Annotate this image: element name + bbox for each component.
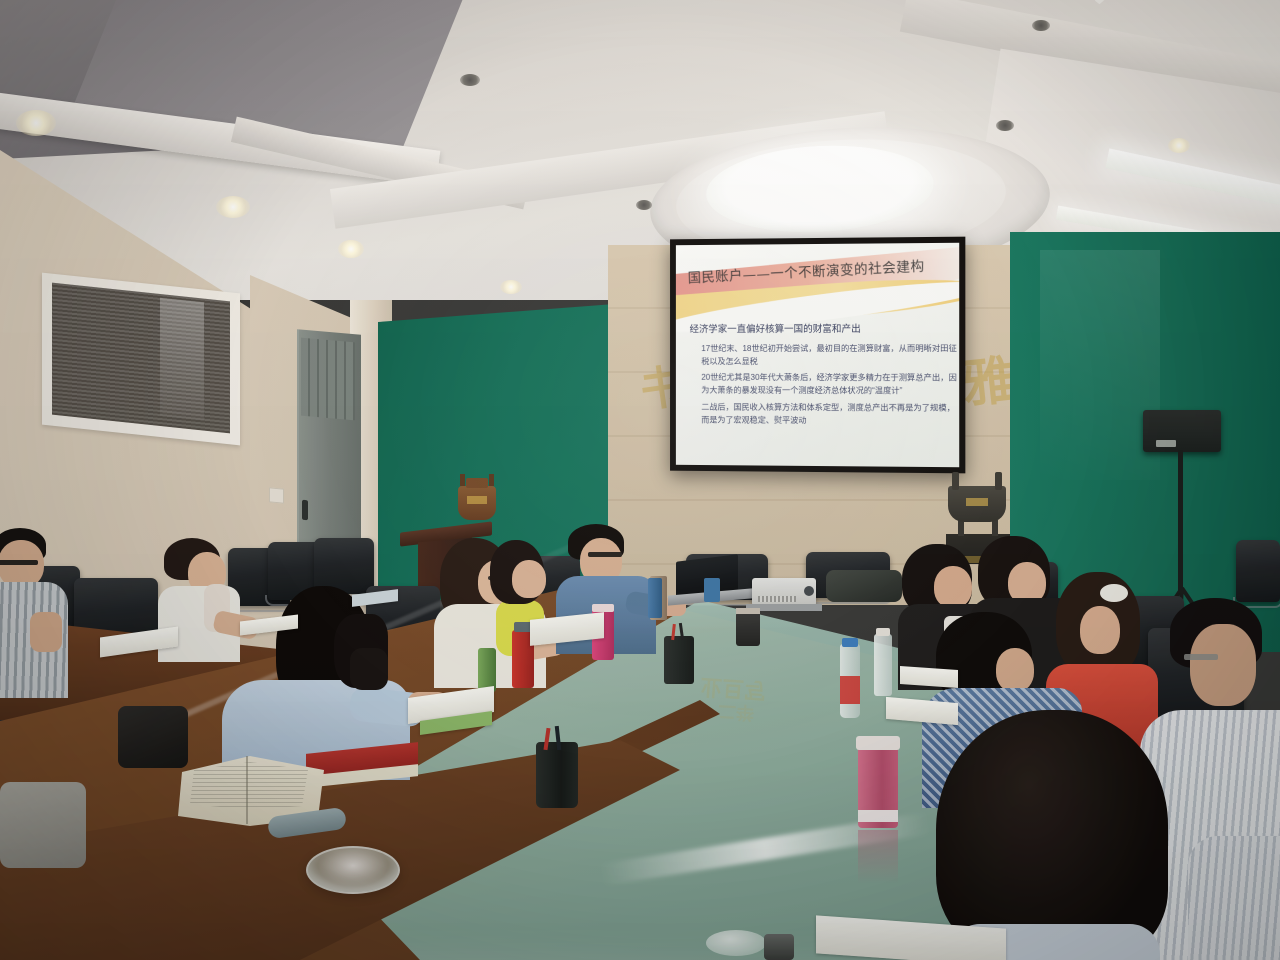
- eyeglasses-icon-3: [588, 552, 622, 557]
- wall-green-right-sheen: [1040, 250, 1160, 480]
- glass-ashtray: [306, 846, 400, 894]
- projection-screen: 国民账户——一个不断演变的社会建构 经济学家一直偏好核算一国的财富和产出 17世…: [670, 237, 965, 474]
- cup-blue: [704, 578, 720, 602]
- speaker-tripod-pole: [1178, 450, 1183, 594]
- window-sheen: [160, 298, 204, 421]
- cup-pink-band: [858, 810, 898, 822]
- downlight-off-2: [996, 120, 1014, 131]
- door-handle[interactable]: [302, 500, 308, 521]
- eyeglasses-icon-4: [1184, 654, 1218, 660]
- vase-handle-left: [460, 474, 465, 486]
- chair-right-4[interactable]: [1236, 540, 1280, 602]
- ding-handle-left: [952, 472, 959, 490]
- downlight-2: [216, 196, 250, 218]
- ding-gold-panel: [966, 498, 988, 506]
- vase-gold-panel: [467, 496, 487, 504]
- downlight-4: [500, 280, 522, 294]
- vase-handle-right: [489, 474, 494, 486]
- thermos-blue: [648, 578, 662, 618]
- open-book-spine: [246, 756, 248, 824]
- downlight-off-3: [636, 200, 652, 210]
- slide-bullet-2: 17世纪末、18世纪初开始尝试，最初目的在测算财富，从而明晰对田征税以及怎么显税: [701, 341, 957, 368]
- downlight-off-4: [1032, 20, 1050, 31]
- water-bottle-2-cap: [876, 628, 890, 636]
- dark-object-foreground: [764, 934, 794, 960]
- downlight-3: [338, 240, 364, 258]
- eyeglasses-icon: [0, 560, 38, 565]
- projector-vent: [758, 596, 796, 602]
- water-bottle-1-cap: [842, 638, 858, 647]
- open-book-text-lines: [190, 762, 310, 810]
- light-switch[interactable]: [269, 487, 284, 503]
- water-bottle-2: [874, 634, 892, 696]
- vase-neck: [466, 478, 488, 488]
- downlight-5: [1168, 138, 1190, 153]
- ding-handle-right: [995, 472, 1002, 490]
- bag-black: [118, 706, 188, 768]
- projector-lens: [804, 586, 814, 596]
- door-glass-grille: [301, 338, 355, 421]
- bag-on-table: [826, 570, 902, 602]
- pa-speaker-badge: [1156, 440, 1176, 447]
- slide-body: 经济学家一直偏好核算一国的财富和产出 17世纪末、18世纪初开始尝试，最初目的在…: [690, 322, 958, 431]
- glass-object-foreground: [706, 930, 766, 956]
- photo-scene: 书 雅 国民账户——一个不断演变的社会建构 经济学家一直偏好核算一国的财富和产出…: [0, 0, 1280, 960]
- cup-dark: [736, 612, 760, 646]
- hair-clip: [1100, 584, 1128, 602]
- pa-speaker: [1143, 410, 1221, 452]
- wall-calligraphy-right: 雅: [958, 337, 1018, 417]
- ding-leg-1: [958, 520, 964, 536]
- downlight-1: [16, 110, 56, 136]
- pen-holder-near: [536, 742, 578, 808]
- cup-pink-lid: [856, 736, 900, 750]
- pen-holder-far: [664, 636, 694, 684]
- projection-screen-surface: 国民账户——一个不断演变的社会建构 经济学家一直偏好核算一国的财富和产出 17世…: [676, 243, 959, 467]
- slide-bullet-1: 经济学家一直偏好核算一国的财富和产出: [690, 322, 958, 338]
- cup-pink-reflection: [858, 830, 898, 884]
- ding-leg-2: [992, 520, 998, 536]
- downlight-off-1: [460, 74, 480, 86]
- slide-bullet-3: 20世纪尤其是30年代大萧条后，经济学家更多精力在于测算总产出，因为大萧条的暴发…: [701, 371, 957, 398]
- slide-bullet-4: 二战后，国民收入核算方法和体系定型，测度总产出不再是为了规模，而是为了宏观稳定、…: [701, 400, 957, 428]
- cup-dark-lid: [736, 608, 760, 614]
- water-bottle-1-label: [840, 676, 860, 704]
- bag-left: [0, 782, 86, 868]
- thermos-pink-cap: [592, 604, 614, 612]
- glass-reflection-calligraphy-2: 二举: [717, 699, 754, 727]
